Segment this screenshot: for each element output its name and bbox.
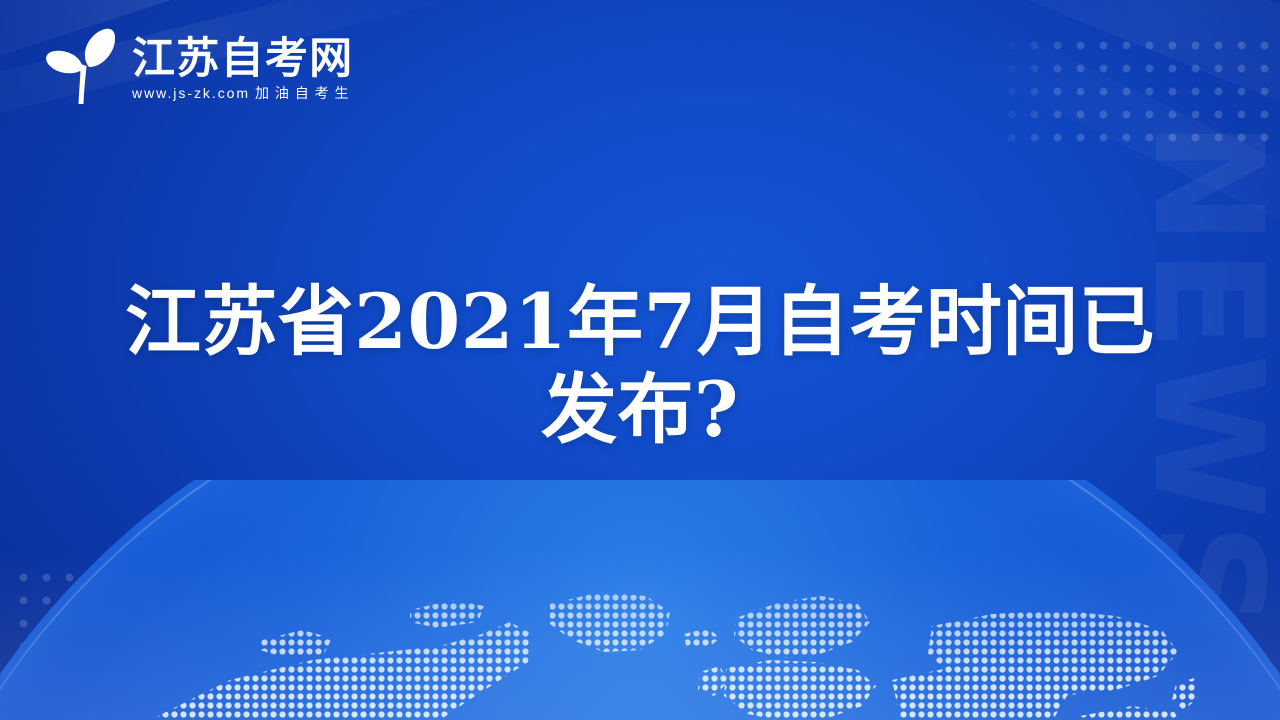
- brand-name: 江苏自考网: [132, 38, 354, 81]
- logo-text-block: 江苏自考网 www.js-zk.com加油自考生: [132, 34, 354, 100]
- globe-graphic: [0, 480, 1280, 720]
- site-logo-header[interactable]: 江苏自考网 www.js-zk.com加油自考生: [36, 24, 354, 110]
- brand-tagline: www.js-zk.com加油自考生: [132, 86, 354, 100]
- brand-slogan: 加油自考生: [255, 85, 354, 101]
- news-banner-poster: NEWS NEWS: [0, 0, 1280, 720]
- page-title: 江苏省2021年7月自考时间已发布?: [0, 278, 1280, 454]
- sprout-seedling-icon: [36, 24, 118, 110]
- world-map-dots-icon: [80, 530, 1200, 720]
- brand-url: www.js-zk.com: [132, 85, 250, 101]
